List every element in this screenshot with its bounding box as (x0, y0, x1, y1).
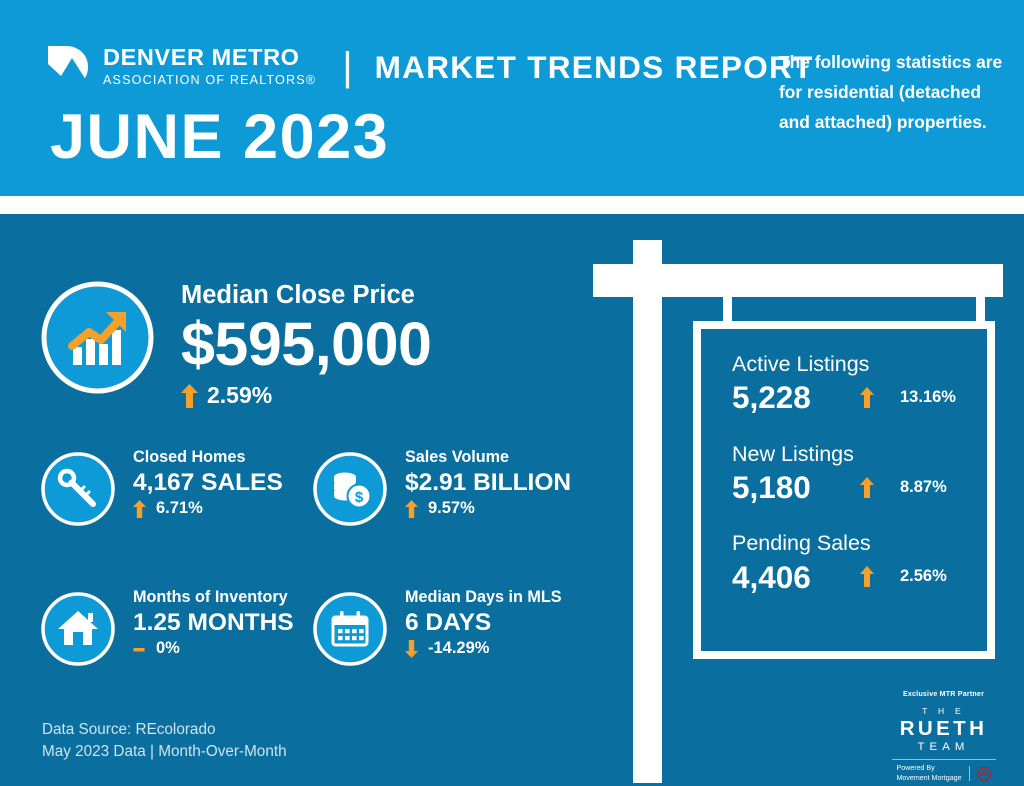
sign-row-active-listings: Active Listings 5,228 13.16% (732, 352, 987, 416)
hero-stat-change: 2.59% (207, 382, 272, 409)
data-source-line-1: Data Source: REcolorado (42, 719, 287, 741)
mini-text-block: Median Days in MLS 6 DAYS -14.29% (405, 588, 562, 658)
growth-chart-icon (40, 280, 155, 395)
partner-powered-row: Powered By Movement Mortgage (876, 764, 1011, 783)
brand-row: DENVER METRO ASSOCIATION OF REALTORS® | … (46, 44, 814, 90)
partner-powered-line-1: Powered By (896, 764, 961, 774)
partner-powered-line-2: Movement Mortgage (896, 774, 961, 784)
sign-post (633, 240, 662, 783)
stat-label: Median Days in MLS (405, 588, 562, 607)
data-source-note: Data Source: REcolorado May 2023 Data | … (42, 719, 287, 763)
arrow-up-icon (860, 477, 874, 498)
sign-label: Pending Sales (732, 531, 987, 556)
hero-stat-delta: 2.59% (181, 382, 431, 409)
sign-value-row: 5,228 13.16% (732, 379, 987, 415)
stat-months-of-inventory: Months of Inventory 1.25 MONTHS 0% (40, 588, 294, 667)
stat-label: Closed Homes (133, 448, 283, 467)
sign-value: 4,406 (732, 559, 860, 595)
stat-median-days-in-mls: Median Days in MLS 6 DAYS -14.29% (312, 588, 562, 667)
sign-value: 5,228 (732, 379, 860, 415)
sign-value-row: 4,406 2.56% (732, 559, 987, 595)
mini-text-block: Sales Volume $2.91 BILLION 9.57% (405, 448, 571, 518)
header-note: The following statistics are for residen… (779, 48, 1004, 138)
header-banner: DENVER METRO ASSOCIATION OF REALTORS® | … (0, 0, 1024, 196)
arrow-up-icon (133, 500, 146, 518)
partner-the: T H E (876, 707, 1011, 716)
flat-dash-icon (133, 640, 146, 658)
brand-line-2: ASSOCIATION OF REALTORS® (103, 72, 316, 90)
partner-divider-rule (892, 759, 996, 760)
partner-vertical-divider (969, 766, 970, 781)
sign-value-row: 5,180 8.87% (732, 469, 987, 505)
stat-label: Sales Volume (405, 448, 571, 467)
stat-delta: -14.29% (405, 639, 562, 658)
sign-label: New Listings (732, 442, 987, 467)
key-icon (40, 451, 116, 527)
partner-kicker: Exclusive MTR Partner (876, 690, 1011, 698)
sign-row-new-listings: New Listings 5,180 8.87% (732, 442, 987, 506)
arrow-down-icon (405, 640, 418, 658)
sign-change: 13.16% (900, 388, 956, 407)
arrow-up-icon (860, 387, 874, 408)
sign-rows: Active Listings 5,228 13.16% New Listing… (701, 329, 987, 651)
brand-line-1: DENVER METRO (103, 45, 316, 70)
sign-crossbar (593, 264, 1003, 297)
partner-logo-block: Exclusive MTR Partner T H E RUETH TEAM P… (876, 690, 1011, 783)
sign-label: Active Listings (732, 352, 987, 377)
stat-change: -14.29% (428, 639, 489, 658)
partner-name: RUETH (876, 718, 1011, 740)
stat-change: 6.71% (156, 499, 203, 518)
hero-stat-label: Median Close Price (181, 281, 431, 309)
month-year-title: JUNE 2023 (50, 106, 389, 169)
stat-label: Months of Inventory (133, 588, 294, 607)
calendar-icon (312, 591, 388, 667)
brand-divider: | (342, 47, 352, 87)
stat-closed-homes: Closed Homes 4,167 SALES 6.71% (40, 448, 283, 527)
stat-delta: 9.57% (405, 499, 571, 518)
partner-team: TEAM (876, 742, 1011, 753)
stat-sales-volume: $ Sales Volume $2.91 BILLION 9.57% (312, 448, 571, 527)
sign-panel: Active Listings 5,228 13.16% New Listing… (693, 321, 995, 659)
coins-dollar-icon: $ (312, 451, 388, 527)
sign-change: 8.87% (900, 478, 947, 497)
stat-change: 0% (156, 639, 180, 658)
stat-change: 9.57% (428, 499, 475, 518)
sign-row-pending-sales: Pending Sales 4,406 2.56% (732, 531, 987, 595)
brand-text: DENVER METRO ASSOCIATION OF REALTORS® (103, 45, 316, 89)
house-icon (40, 591, 116, 667)
stat-value: 1.25 MONTHS (133, 608, 294, 637)
report-title: MARKET TRENDS REPORT (375, 49, 814, 86)
arrow-up-icon (405, 500, 418, 518)
movement-mortgage-icon (977, 767, 991, 781)
partner-powered-text: Powered By Movement Mortgage (896, 764, 961, 783)
stat-median-close-price: Median Close Price $595,000 2.59% (40, 280, 431, 409)
arrow-up-icon (181, 384, 198, 408)
sign-change: 2.56% (900, 567, 947, 586)
svg-text:$: $ (355, 489, 364, 506)
sign-value: 5,180 (732, 469, 860, 505)
data-source-line-2: May 2023 Data | Month-Over-Month (42, 741, 287, 763)
stat-value: $2.91 BILLION (405, 468, 571, 497)
stat-value: 6 DAYS (405, 608, 562, 637)
mini-text-block: Closed Homes 4,167 SALES 6.71% (133, 448, 283, 518)
arrow-up-icon (860, 566, 874, 587)
mini-text-block: Months of Inventory 1.25 MONTHS 0% (133, 588, 294, 658)
hero-stat-value: $595,000 (181, 310, 431, 378)
stat-delta: 6.71% (133, 499, 283, 518)
dmar-mountain-logo-icon (46, 44, 90, 90)
stat-delta: 0% (133, 639, 294, 658)
header-divider-bar (0, 196, 1024, 214)
hero-text-block: Median Close Price $595,000 2.59% (181, 280, 431, 409)
stat-value: 4,167 SALES (133, 468, 283, 497)
